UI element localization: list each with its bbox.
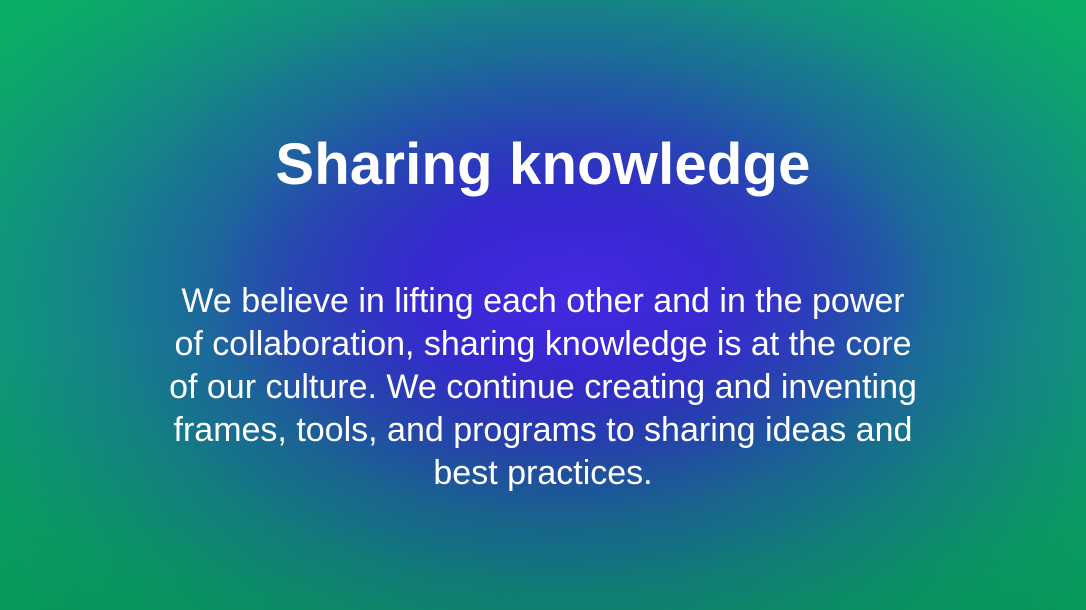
body-line: We believe in lifting each other and in … (0, 280, 1086, 323)
slide-title: Sharing knowledge (0, 133, 1086, 197)
slide-body-text: We believe in lifting each other and in … (0, 280, 1086, 495)
body-line: best practices. (0, 452, 1086, 495)
slide-content: Sharing knowledge We believe in lifting … (0, 0, 1086, 610)
body-line: frames, tools, and programs to sharing i… (0, 409, 1086, 452)
body-line: of our culture. We continue creating and… (0, 366, 1086, 409)
presentation-slide: Sharing knowledge We believe in lifting … (0, 0, 1086, 610)
body-line: of collaboration, sharing knowledge is a… (0, 323, 1086, 366)
